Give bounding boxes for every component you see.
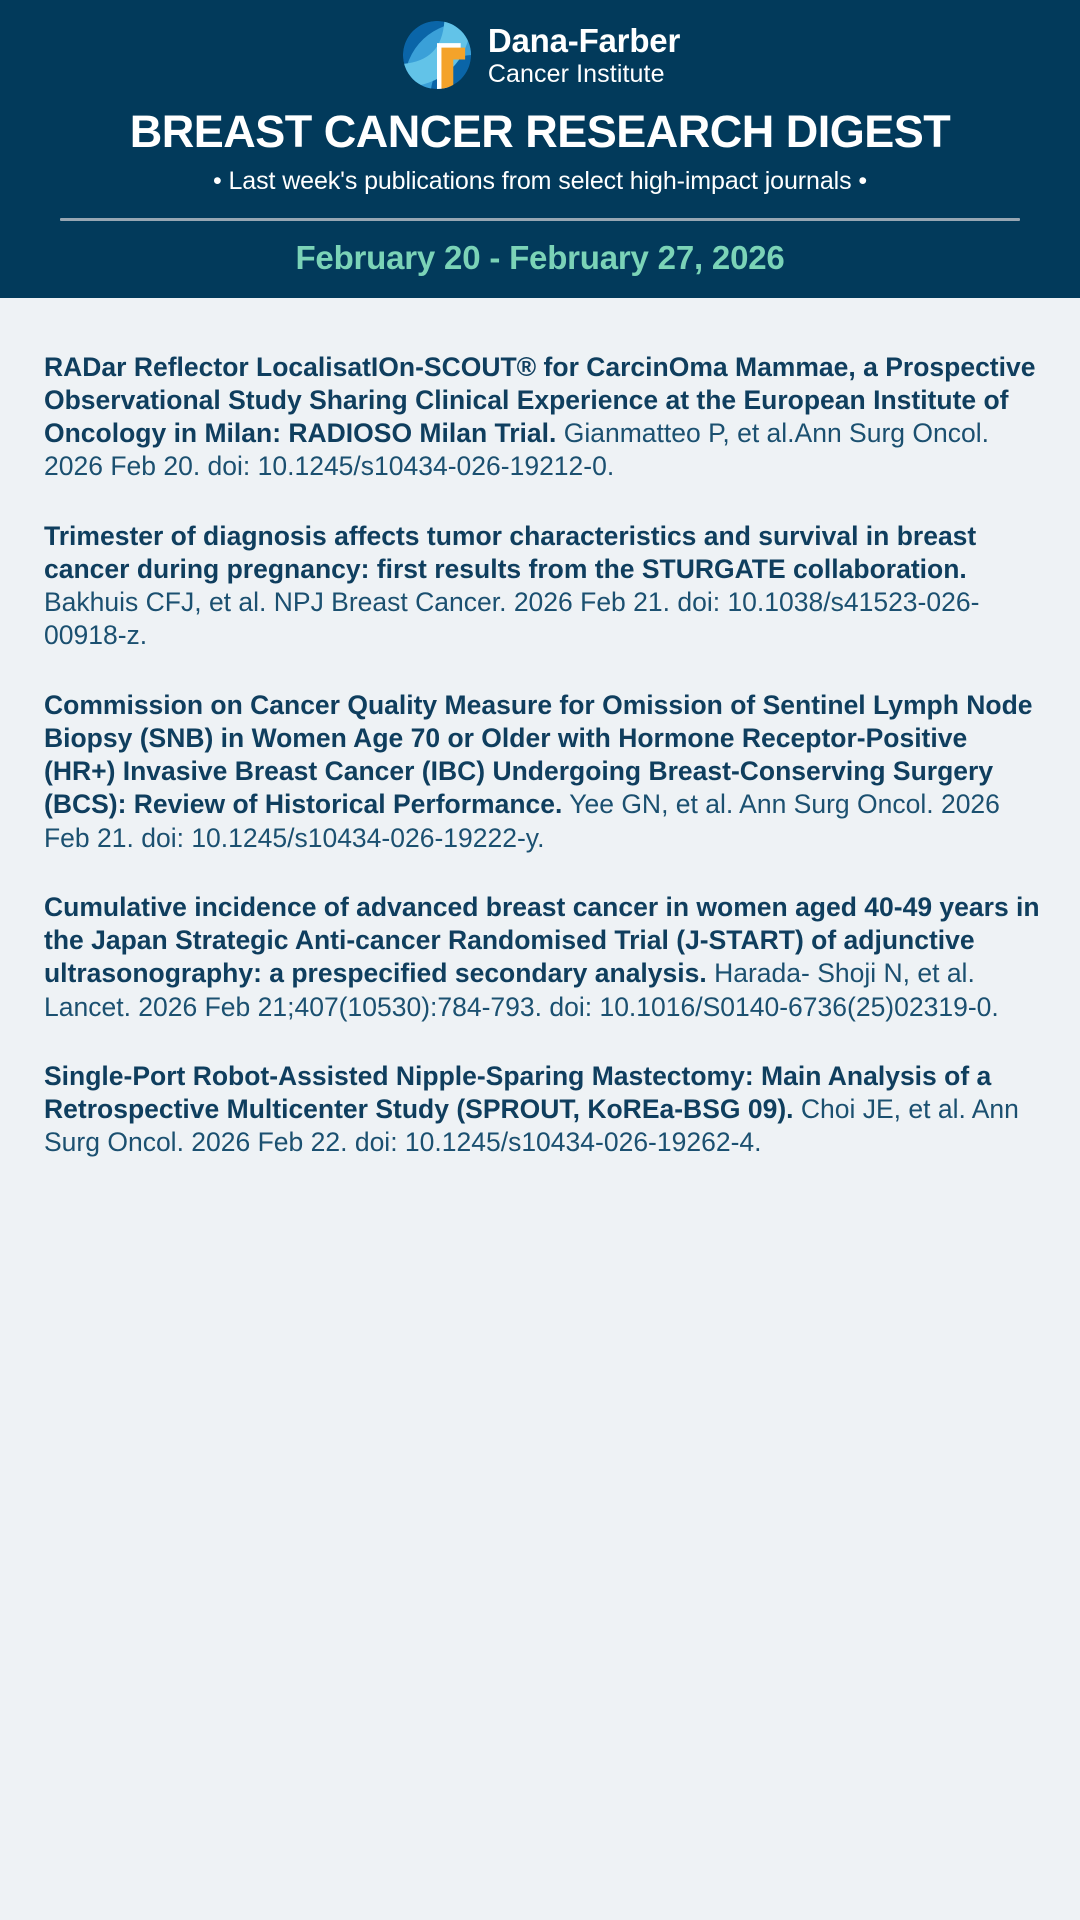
article-list: RADar Reflector LocalisatIOn-SCOUT® for …: [0, 298, 1080, 1160]
article-entry: Trimester of diagnosis affects tumor cha…: [44, 520, 1042, 653]
header-divider: [60, 218, 1020, 221]
page-subtitle: • Last week's publications from select h…: [0, 167, 1080, 196]
article-entry: Cumulative incidence of advanced breast …: [44, 891, 1042, 1024]
article-entry: Single-Port Robot-Assisted Nipple-Sparin…: [44, 1060, 1042, 1160]
article-citation: Bakhuis CFJ, et al. NPJ Breast Cancer. 2…: [44, 587, 979, 650]
article-title: Trimester of diagnosis affects tumor cha…: [44, 521, 976, 584]
brand-name-secondary: Cancer Institute: [488, 62, 680, 87]
article-entry: Commission on Cancer Quality Measure for…: [44, 689, 1042, 855]
brand-lockup: Dana-Farber Cancer Institute: [0, 0, 1080, 92]
article-entry: RADar Reflector LocalisatIOn-SCOUT® for …: [44, 351, 1042, 484]
page-header: Dana-Farber Cancer Institute BREAST CANC…: [0, 0, 1080, 298]
brand-wordmark: Dana-Farber Cancer Institute: [488, 24, 680, 87]
date-range-label: February 20 - February 27, 2026: [0, 239, 1080, 277]
brand-name-primary: Dana-Farber: [488, 24, 680, 57]
page-title: BREAST CANCER RESEARCH DIGEST: [0, 108, 1080, 155]
dana-farber-logo-mark: [400, 18, 474, 92]
